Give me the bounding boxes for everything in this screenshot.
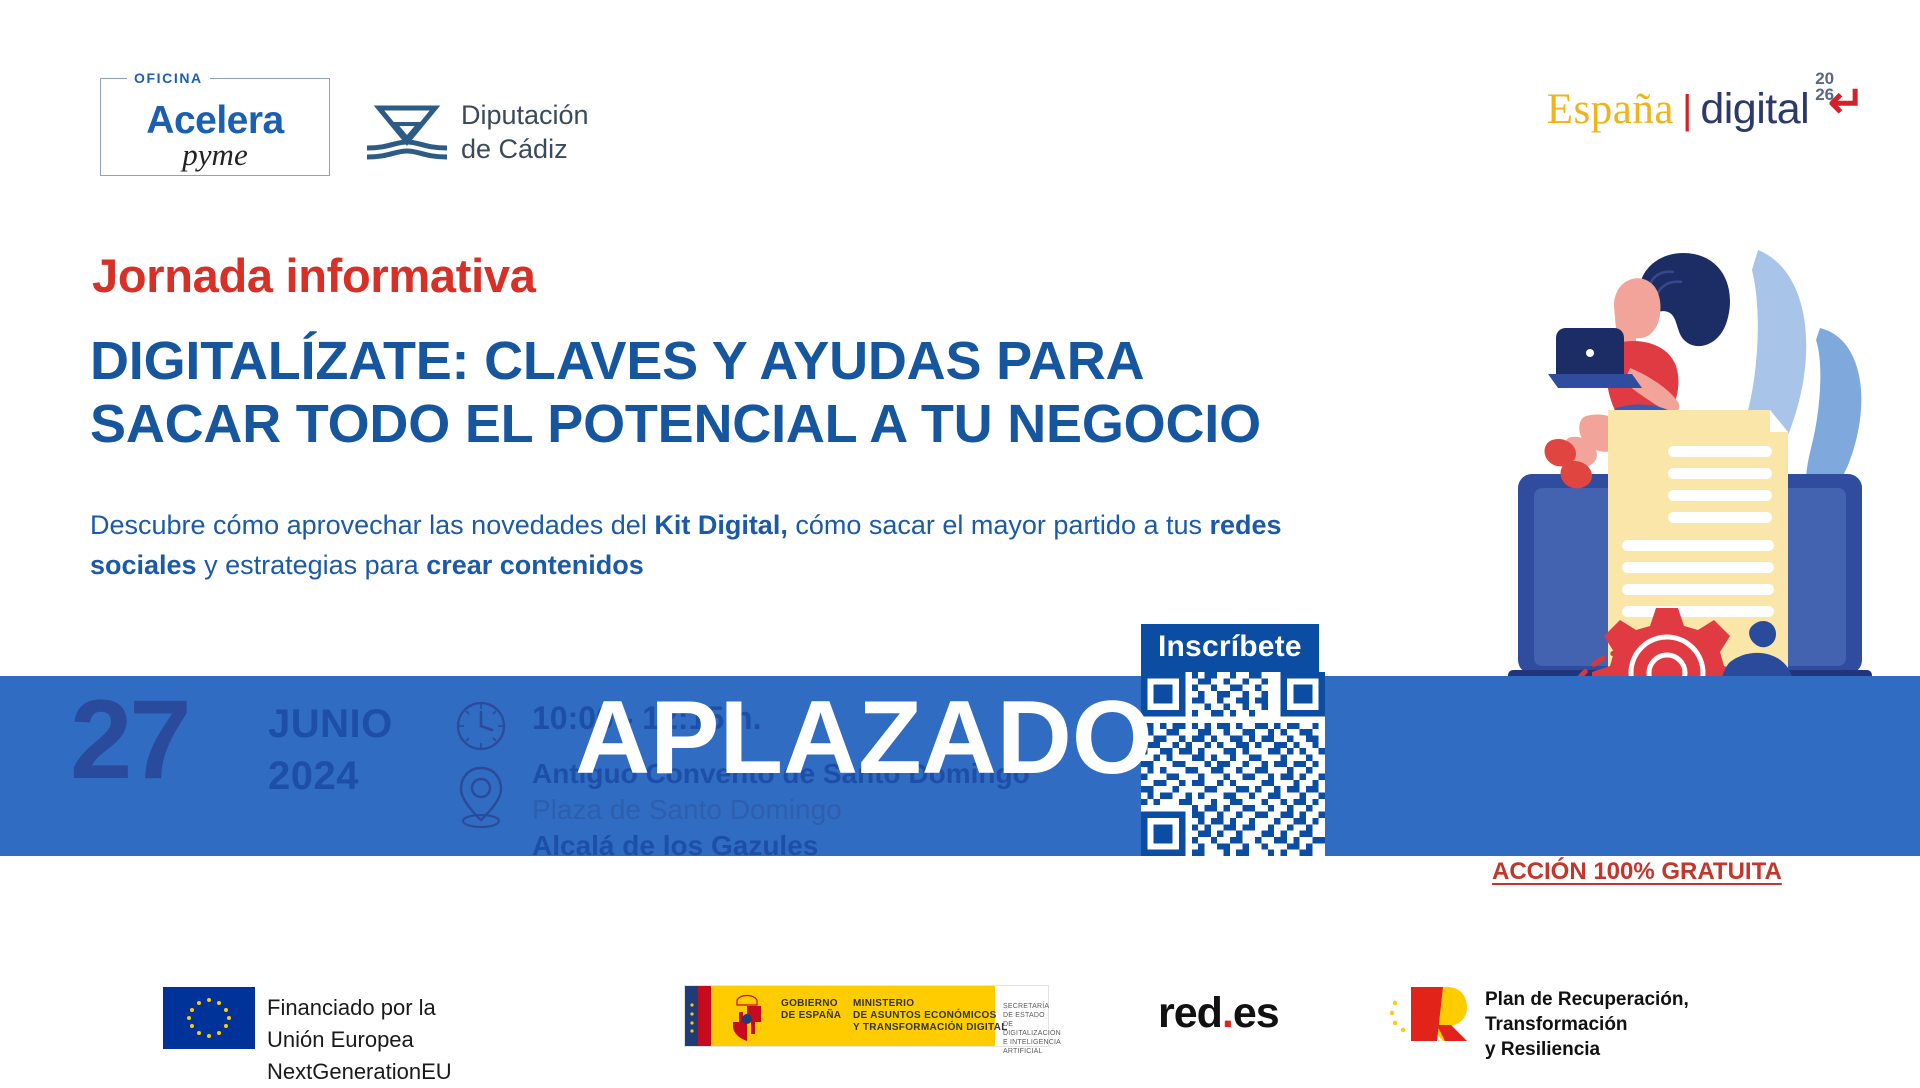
- ministerio-line-3: Y TRANSFORMACIÓN DIGITAL: [853, 1022, 1008, 1034]
- description-part-1: Descubre cómo aprovechar las novedades d…: [90, 510, 654, 540]
- free-action-notice: ACCIÓN 100% GRATUITA: [1492, 858, 1782, 886]
- page-title-line-2: SACAR TODO EL POTENCIAL A TU NEGOCIO: [90, 393, 1380, 456]
- enter-arrow-icon: ↵: [1828, 77, 1865, 128]
- ministerio-line-1: MINISTERIO: [853, 998, 1008, 1010]
- espana-digital-logo: España|digital2026↵: [1547, 85, 1865, 155]
- poster-canvas: OFICINA Acelera pyme Diputación de Cádiz…: [0, 0, 1920, 1080]
- description-part-2: cómo sacar el mayor partido a tus: [788, 510, 1210, 540]
- diputacion-line-1: Diputación: [461, 98, 589, 132]
- acelera-pyme-wordmark: pyme: [101, 137, 329, 173]
- prtr-label: Plan de Recuperación, Transformación y R…: [1485, 987, 1689, 1062]
- plan-recuperacion-logo: Plan de Recuperación, Transformación y R…: [1385, 981, 1715, 1051]
- registration-qr-code[interactable]: [1141, 672, 1325, 856]
- footer-logos: Financiado por la Unión Europea NextGene…: [0, 975, 1920, 1065]
- description-bold-kit-digital: Kit Digital,: [654, 510, 788, 540]
- espana-digital-separator: |: [1682, 88, 1692, 132]
- event-kicker: Jornada informativa: [92, 248, 536, 303]
- gobierno-line-1: GOBIERNO: [781, 998, 841, 1010]
- eu-funding-text: Financiado por la Unión Europea NextGene…: [267, 992, 452, 1088]
- espana-wordmark: España: [1547, 86, 1674, 133]
- prtr-mark-icon: [1385, 981, 1477, 1047]
- eu-text-line-1: Financiado por la Unión Europea: [267, 992, 452, 1056]
- gobierno-label: GOBIERNO DE ESPAÑA: [781, 998, 841, 1022]
- diputacion-cadiz-mark-icon: [365, 102, 449, 164]
- secretaria-line-2: DE DIGITALIZACIÓN: [1003, 1020, 1061, 1038]
- red-es-logo: red.es: [1158, 989, 1279, 1038]
- page-title: DIGITALÍZATE: CLAVES Y AYUDAS PARA SACAR…: [90, 330, 1380, 456]
- red-es-dot: .: [1222, 989, 1233, 1037]
- red-es-suffix: es: [1233, 989, 1279, 1037]
- description-bold-crear-contenidos: crear contenidos: [426, 550, 644, 580]
- secretaria-line-1: SECRETARÍA DE ESTADO: [1003, 1002, 1061, 1020]
- event-year: 2024: [268, 750, 393, 802]
- event-month: JUNIO: [268, 698, 393, 750]
- page-title-line-1: DIGITALÍZATE: CLAVES Y AYUDAS PARA: [90, 330, 1380, 393]
- ministerio-label: MINISTERIO DE ASUNTOS ECONÓMICOS Y TRANS…: [853, 998, 1008, 1034]
- prtr-line-2: Transformación: [1485, 1012, 1689, 1037]
- diputacion-cadiz-logo: Diputación de Cádiz: [365, 98, 605, 170]
- small-laptop-logo-icon: [1586, 349, 1594, 357]
- event-day: 27: [70, 686, 189, 794]
- leaf-right-icon: [1806, 328, 1861, 499]
- secretaria-line-3: E INTELIGENCIA ARTIFICIAL: [1003, 1038, 1061, 1056]
- acelera-pyme-logo: OFICINA Acelera pyme: [100, 78, 330, 176]
- gobierno-line-2: DE ESPAÑA: [781, 1010, 841, 1022]
- secretaria-label: SECRETARÍA DE ESTADO DE DIGITALIZACIÓN E…: [1003, 1002, 1061, 1056]
- digital-wordmark: digital: [1700, 85, 1809, 133]
- acelera-oficina-label: OFICINA: [127, 70, 210, 86]
- location-pin-icon: [455, 764, 507, 828]
- status-badge-postponed: APLAZADO: [575, 686, 1153, 790]
- eu-text-line-2: NextGenerationEU: [267, 1056, 452, 1088]
- event-month-year: JUNIO 2024: [268, 698, 393, 802]
- spain-coat-of-arms-icon: [723, 992, 771, 1042]
- red-es-prefix: red: [1158, 989, 1222, 1037]
- clock-icon: [455, 700, 507, 752]
- diputacion-line-2: de Cádiz: [461, 132, 589, 166]
- small-laptop-keyboard-icon: [1548, 374, 1642, 388]
- register-button[interactable]: Inscríbete: [1141, 624, 1319, 673]
- diputacion-label: Diputación de Cádiz: [461, 98, 589, 166]
- description-part-3: y estrategias para: [197, 550, 427, 580]
- gobierno-de-espana-logo: GOBIERNO DE ESPAÑA MINISTERIO DE ASUNTOS…: [684, 985, 1049, 1047]
- spain-flag-strip-icon: [685, 986, 711, 1046]
- prtr-line-1: Plan de Recuperación,: [1485, 987, 1689, 1012]
- event-description: Descubre cómo aprovechar las novedades d…: [90, 505, 1290, 585]
- prtr-line-3: y Resiliencia: [1485, 1037, 1689, 1062]
- flag-strip-stars-icon: [687, 1000, 697, 1036]
- ministerio-line-2: DE ASUNTOS ECONÓMICOS: [853, 1010, 1008, 1022]
- eu-stars-icon: [163, 987, 255, 1049]
